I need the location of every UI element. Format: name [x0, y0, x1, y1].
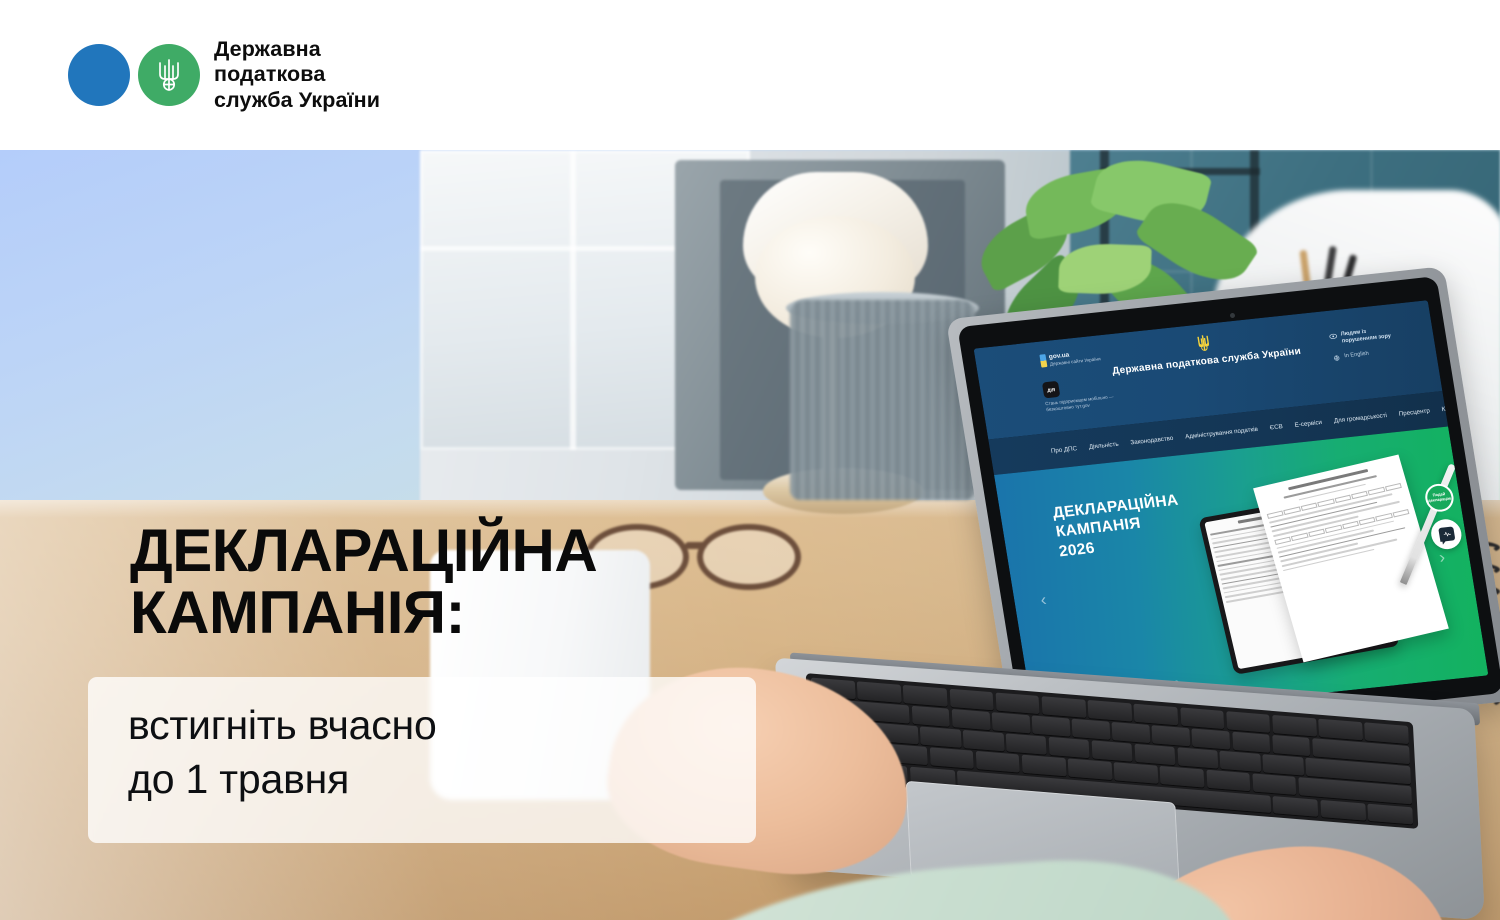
key[interactable]: [1112, 722, 1150, 743]
blue-circle-icon: [68, 44, 130, 106]
key[interactable]: [1088, 700, 1132, 721]
form-cell: [1291, 532, 1308, 541]
key[interactable]: [1263, 754, 1304, 775]
key[interactable]: [1049, 737, 1090, 758]
key[interactable]: [930, 748, 974, 769]
key[interactable]: [995, 692, 1039, 713]
organization-logo[interactable]: Державна податкова служба України: [68, 37, 380, 113]
chat-icon: [1438, 526, 1455, 541]
govua-logo[interactable]: gov.ua Державні сайти України: [1039, 348, 1101, 367]
tax-service-website: gov.ua Державні сайти України ДІЯ Стань …: [974, 300, 1489, 724]
form-cell: [1284, 507, 1301, 516]
search-icon[interactable]: [1485, 400, 1488, 408]
hero-slide-title: ДЕКЛАРАЦІЙНА КАМПАНІЯ 2026: [1052, 492, 1187, 562]
key[interactable]: [1180, 707, 1224, 728]
green-circle-trident-icon: [138, 44, 200, 106]
accessibility-link[interactable]: Людям із порушенням зору: [1328, 326, 1391, 347]
nav-item-2[interactable]: Законодавство: [1130, 434, 1174, 445]
submit-declaration-fab[interactable]: Подай декларацію: [1423, 482, 1455, 513]
key[interactable]: [1160, 766, 1204, 787]
language-switcher[interactable]: In English: [1332, 348, 1394, 361]
declaration-campaign-banner: Державна податкова служба України: [0, 0, 1500, 920]
key[interactable]: [1220, 751, 1261, 772]
accessibility-block: Людям із порушенням зору In English: [1328, 326, 1394, 361]
declaration-illustration: [1192, 461, 1452, 688]
key[interactable]: [1114, 763, 1158, 784]
key[interactable]: [1273, 796, 1319, 817]
key[interactable]: [1177, 748, 1218, 769]
organization-name: Державна податкова служба України: [214, 37, 380, 113]
diia-badge[interactable]: ДІЯ: [1042, 381, 1060, 398]
key[interactable]: [1152, 725, 1190, 746]
form-cell: [1334, 495, 1351, 504]
form-cell: [1351, 491, 1368, 500]
key[interactable]: [1252, 774, 1296, 795]
form-cell: [1267, 511, 1284, 520]
key[interactable]: [920, 727, 961, 748]
key[interactable]: [903, 685, 947, 706]
key[interactable]: [1206, 770, 1250, 791]
nav-item-1[interactable]: Діяльність: [1088, 440, 1119, 450]
wave-icon: [1442, 531, 1451, 538]
page-header: Державна податкова служба України: [0, 0, 1500, 150]
language-label: In English: [1344, 351, 1369, 360]
form-cell: [1342, 520, 1359, 529]
key[interactable]: [1272, 735, 1310, 756]
laptop-screen: gov.ua Державні сайти України ДІЯ Стань …: [974, 300, 1489, 724]
chat-fab[interactable]: [1429, 518, 1464, 551]
key[interactable]: [1091, 741, 1132, 762]
form-cell: [1300, 503, 1317, 512]
nav-item-0[interactable]: Про ДПС: [1050, 445, 1077, 455]
globe-icon: [1332, 354, 1341, 361]
form-cell: [1385, 483, 1402, 492]
key[interactable]: [1072, 719, 1110, 740]
key[interactable]: [1134, 744, 1175, 765]
key[interactable]: [1022, 755, 1066, 776]
key[interactable]: [1134, 704, 1178, 725]
trident-icon: [155, 57, 183, 93]
key[interactable]: [912, 706, 950, 727]
carousel-prev-arrow[interactable]: ‹: [1039, 591, 1047, 608]
key[interactable]: [1367, 803, 1413, 824]
nav-item-7[interactable]: Пресцентр: [1398, 407, 1430, 417]
form-cell: [1375, 513, 1392, 522]
key[interactable]: [1068, 759, 1112, 780]
key[interactable]: [1318, 719, 1362, 740]
key[interactable]: [1272, 715, 1316, 736]
carousel-next-arrow[interactable]: ›: [1438, 548, 1446, 565]
form-cell: [1325, 524, 1342, 533]
logo-marks: [68, 44, 198, 106]
nav-item-4[interactable]: ЄСВ: [1269, 423, 1283, 431]
key[interactable]: [1226, 711, 1270, 732]
key[interactable]: [857, 681, 901, 702]
key[interactable]: [1006, 734, 1047, 755]
form-cell: [1368, 487, 1385, 496]
page-headline: ДЕКЛАРАЦІЙНА КАМПАНІЯ:: [130, 520, 597, 644]
key[interactable]: [963, 730, 1004, 751]
window-mullion: [570, 150, 576, 450]
nav-item-3[interactable]: Адміністрування податків: [1185, 425, 1259, 440]
form-cell: [1317, 499, 1334, 508]
form-cell: [1358, 516, 1375, 525]
accessibility-label: Людям із порушенням зору: [1340, 326, 1391, 346]
trident-icon: [1195, 333, 1212, 353]
key[interactable]: [1365, 722, 1409, 743]
key[interactable]: [992, 712, 1030, 733]
key[interactable]: [976, 751, 1020, 772]
key[interactable]: [1232, 732, 1270, 753]
page-subtext: встигніть вчасно до 1 травня: [128, 698, 437, 806]
nav-item-6[interactable]: Для громадськості: [1333, 412, 1387, 425]
hero-stage: gov.ua Державні сайти України ДІЯ Стань …: [0, 150, 1500, 920]
key[interactable]: [1042, 696, 1086, 717]
key[interactable]: [949, 689, 993, 710]
key[interactable]: [1320, 799, 1366, 820]
form-cell: [1308, 528, 1325, 537]
ukraine-flag-icon: [1039, 354, 1047, 367]
key[interactable]: [952, 709, 990, 730]
nav-item-5[interactable]: Е-сервіси: [1294, 418, 1322, 428]
eye-icon: [1329, 333, 1338, 340]
key[interactable]: [1192, 729, 1230, 750]
form-cell: [1274, 536, 1291, 545]
form-cell: [1392, 509, 1409, 518]
key[interactable]: [1032, 716, 1070, 737]
